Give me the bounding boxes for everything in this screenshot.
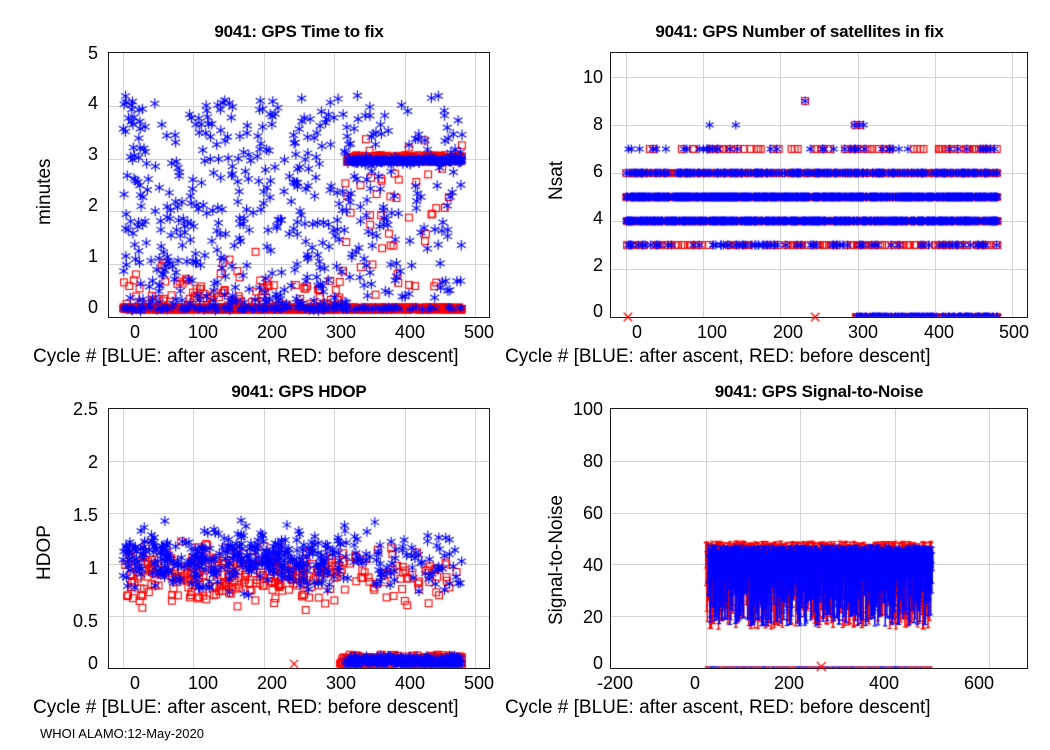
data-marker-layer — [0, 0, 1050, 750]
gps-diagnostics-figure: 9041: GPS Time to fix minutes 5 4 3 2 1 … — [0, 0, 1050, 750]
